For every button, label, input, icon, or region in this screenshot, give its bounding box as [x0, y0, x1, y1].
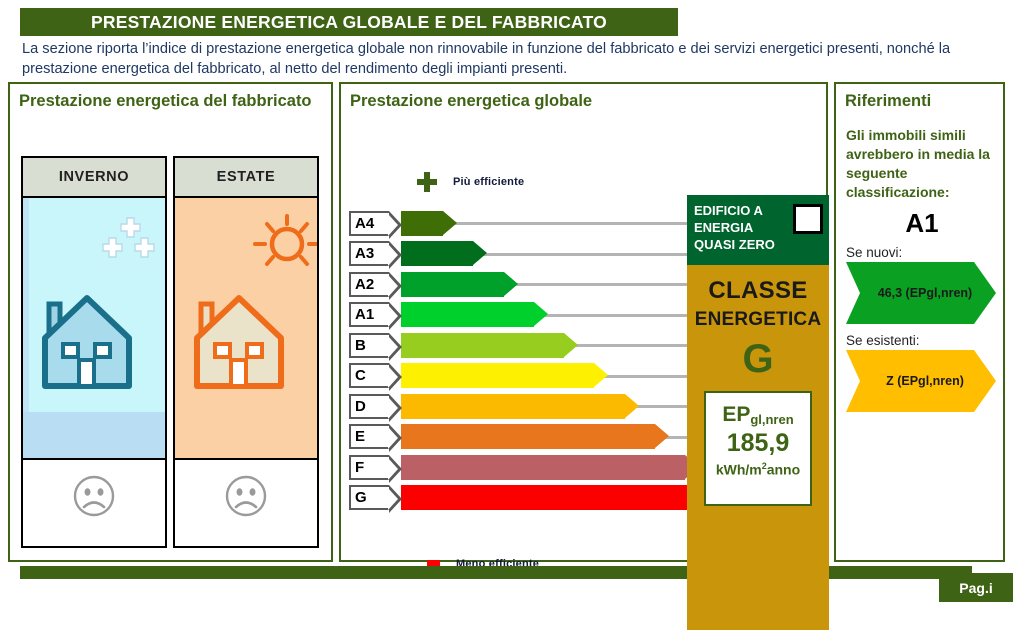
energy-class-label: A2	[355, 277, 374, 292]
ep-unit: kWh/m2anno	[706, 462, 810, 477]
energy-class-badge-A2: A2	[349, 272, 389, 297]
intro-paragraph: La sezione riporta l’indice di prestazio…	[22, 39, 992, 79]
energy-class-badge-A4: A4	[349, 211, 389, 236]
energy-class-bar-A4	[401, 211, 443, 236]
legend-label-top: Più efficiente	[453, 176, 524, 188]
panel-riferimenti: Riferimenti Gli immobili simili avrebber…	[834, 82, 1005, 562]
ep-label: EPgl,nren	[706, 404, 810, 425]
panel-prestazione-fabbricato: Prestazione energetica del fabbricato IN…	[8, 82, 333, 562]
mid-panel-title: Prestazione energetica globale	[350, 91, 826, 112]
energy-class-bar-G	[401, 485, 715, 510]
season-label-inverno: INVERNO	[59, 169, 129, 185]
energy-class-bar-F	[401, 455, 685, 480]
page-title: PRESTAZIONE ENERGETICA GLOBALE E DEL FAB…	[91, 12, 607, 33]
bar-tip	[504, 272, 518, 296]
riferimenti-body: Gli immobili simili avrebbero in media l…	[846, 126, 998, 412]
face-cell-estate	[173, 460, 319, 548]
energy-class-label: F	[355, 460, 364, 475]
right-panel-title: Riferimenti	[845, 91, 1003, 112]
ep-value: 185,9	[706, 431, 810, 456]
left-panel-title: Prestazione energetica del fabbricato	[19, 91, 331, 112]
label-se-esistenti: Se esistenti:	[846, 333, 998, 348]
riferimenti-lead: Gli immobili simili avrebbero in media l…	[846, 126, 998, 202]
page-number-label: Pag.i	[959, 580, 992, 596]
page-number-badge: Pag.i	[939, 573, 1013, 602]
energy-class-bar-A1	[401, 302, 534, 327]
energy-class-label: B	[355, 338, 366, 353]
legend-more-efficient: Più efficiente	[417, 172, 524, 192]
bar-body	[401, 363, 594, 388]
bar-tip	[655, 424, 669, 448]
value-se-esistenti: Z (EPgl,nren)	[880, 374, 964, 388]
energy-class-badge-A1: A1	[349, 302, 389, 327]
face-cell-inverno	[21, 460, 167, 548]
bar-body	[401, 272, 504, 297]
bar-tip	[473, 241, 487, 265]
classe-line1: CLASSE	[687, 277, 829, 305]
ep-label-sub: gl,nren	[750, 412, 793, 427]
seasons-grid: INVERNO	[21, 156, 319, 548]
bar-body	[401, 241, 473, 266]
sad-face-icon	[224, 474, 268, 518]
energy-class-badge-G: G	[349, 485, 389, 510]
footer-green-bar	[20, 566, 972, 579]
sun-icon	[251, 212, 319, 274]
energy-class-label: E	[355, 429, 365, 444]
classe-line2: ENERGETICA	[687, 309, 829, 331]
energy-class-bar-B	[401, 333, 564, 358]
plus-icon	[417, 172, 437, 192]
label-se-nuovi: Se nuovi:	[846, 245, 998, 260]
ep-unit-pre: kWh/m	[716, 462, 762, 478]
classe-energetica-box: EDIFICIO A ENERGIA QUASI ZERO CLASSE ENE…	[687, 195, 829, 630]
nzeb-checkbox[interactable]	[793, 204, 823, 234]
bar-body	[401, 302, 534, 327]
energy-class-badge-F: F	[349, 455, 389, 480]
energy-class-label: D	[355, 399, 366, 414]
classe-gold-body: CLASSE ENERGETICA G EPgl,nren 185,9 kWh/…	[687, 265, 829, 630]
energy-class-bar-A3	[401, 241, 473, 266]
winter-illustration	[21, 198, 167, 460]
arrow-se-esistenti: Z (EPgl,nren)	[846, 350, 998, 412]
season-column-estate: ESTATE	[173, 156, 319, 548]
snowflake-icon	[101, 216, 165, 272]
bar-tip	[534, 302, 548, 326]
bar-tip	[625, 394, 639, 418]
energy-class-label: A4	[355, 216, 374, 231]
bar-body	[401, 455, 685, 480]
energy-class-badge-B: B	[349, 333, 389, 358]
energy-class-badge-A3: A3	[349, 241, 389, 266]
sad-face-icon	[72, 474, 116, 518]
ep-label-main: EP	[722, 403, 750, 426]
bar-body	[401, 333, 564, 358]
energy-class-label: G	[355, 490, 367, 505]
season-label-estate: ESTATE	[217, 169, 276, 185]
riferimenti-class-value: A1	[846, 210, 998, 236]
panels-row: Prestazione energetica del fabbricato IN…	[8, 82, 1005, 562]
bar-body	[401, 424, 655, 449]
energy-class-bar-E	[401, 424, 655, 449]
value-se-nuovi: 46,3 (EPgl,nren)	[872, 286, 972, 300]
ep-unit-post: anno	[767, 462, 800, 478]
energy-class-label: A3	[355, 246, 374, 261]
energy-class-badge-C: C	[349, 363, 389, 388]
bar-tip	[594, 363, 608, 387]
arrow-se-nuovi: 46,3 (EPgl,nren)	[846, 262, 998, 324]
bar-body	[401, 211, 443, 236]
energy-class-label: A1	[355, 307, 374, 322]
energy-class-badge-E: E	[349, 424, 389, 449]
energy-class-badge-D: D	[349, 394, 389, 419]
bar-tip	[443, 211, 457, 235]
bar-body	[401, 394, 625, 419]
house-icon-summer	[189, 286, 289, 394]
nzeb-banner: EDIFICIO A ENERGIA QUASI ZERO	[687, 195, 829, 265]
energy-class-bar-C	[401, 363, 594, 388]
summer-illustration	[173, 198, 319, 460]
ep-value-box: EPgl,nren 185,9 kWh/m2anno	[704, 391, 812, 506]
section-title-bar: PRESTAZIONE ENERGETICA GLOBALE E DEL FAB…	[20, 8, 678, 36]
energy-class-bar-D	[401, 394, 625, 419]
season-header-estate: ESTATE	[173, 156, 319, 198]
classe-value: G	[687, 339, 829, 379]
house-icon-winter	[37, 286, 137, 394]
bar-tip	[564, 333, 578, 357]
season-column-inverno: INVERNO	[21, 156, 167, 548]
season-header-inverno: INVERNO	[21, 156, 167, 198]
bar-body	[401, 485, 715, 510]
energy-class-label: C	[355, 368, 366, 383]
nzeb-label: EDIFICIO A ENERGIA QUASI ZERO	[694, 202, 775, 253]
energy-class-bar-A2	[401, 272, 504, 297]
